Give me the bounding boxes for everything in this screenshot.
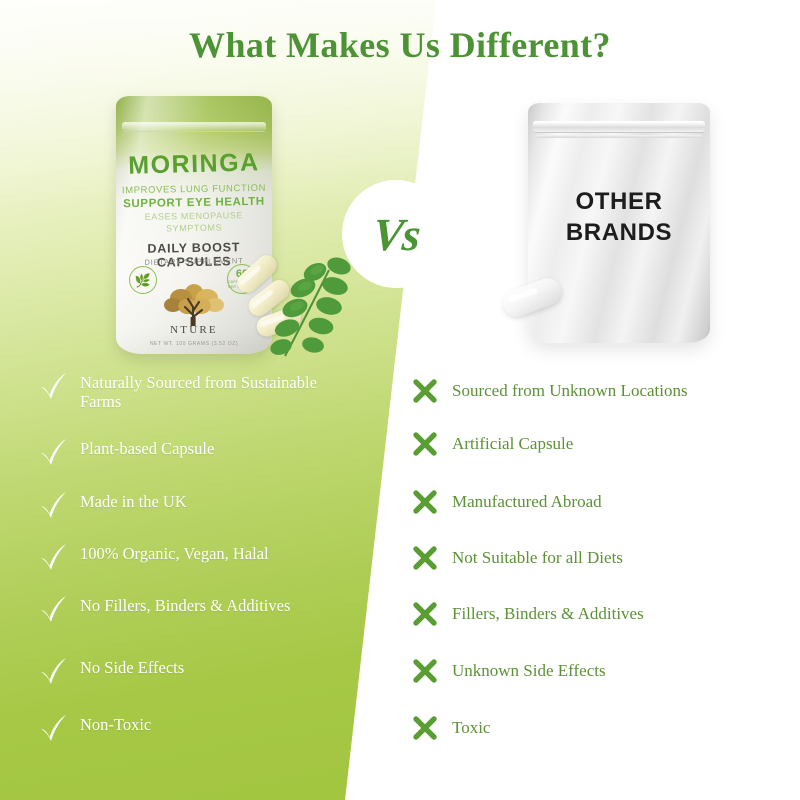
pouch-claims: IMPROVES LUNG FUNCTION SUPPORT EYE HEALT… [116, 184, 272, 234]
list-item: 100% Organic, Vegan, Halal [38, 543, 358, 595]
list-item: Made in the UK [38, 491, 358, 543]
drawbacks-list-theirs: Sourced from Unknown Locations Artificia… [412, 378, 800, 765]
list-item: Naturally Sourced from Sustainable Farms [38, 372, 358, 438]
cross-icon [412, 658, 438, 684]
list-item-label: Manufactured Abroad [438, 489, 602, 512]
list-item-label: Artificial Capsule [438, 431, 573, 454]
list-item: Fillers, Binders & Additives [412, 601, 800, 658]
moringa-leaf-icon [255, 252, 367, 360]
versus-badge: Vs [342, 180, 450, 288]
list-item: Not Suitable for all Diets [412, 545, 800, 601]
list-item: Non-Toxic [38, 714, 358, 764]
list-item-label: Plant-based Capsule [68, 438, 214, 458]
other-brands-line-1: OTHER [528, 187, 710, 218]
list-item: Manufactured Abroad [412, 489, 800, 545]
comparison-infographic: What Makes Us Different? MORINGA IMPROVE… [0, 0, 800, 800]
list-item: No Side Effects [38, 657, 358, 714]
list-item-label: Fillers, Binders & Additives [438, 601, 644, 624]
check-icon [38, 491, 68, 521]
list-item-label: Non-Toxic [68, 714, 151, 734]
check-icon [38, 657, 68, 687]
page-title: What Makes Us Different? [0, 24, 800, 66]
list-item: Toxic [412, 715, 800, 765]
check-icon [38, 595, 68, 625]
cross-icon [412, 601, 438, 627]
cross-icon [412, 545, 438, 571]
list-item-label: Unknown Side Effects [438, 658, 606, 681]
pouch-claim-3: EASES MENOPAUSE SYMPTOMS [116, 210, 272, 236]
leaf-icon: 🌿 [129, 266, 157, 294]
pouch-zipper [533, 121, 705, 133]
check-icon [38, 714, 68, 744]
versus-label: Vs [370, 208, 422, 261]
check-icon [38, 543, 68, 573]
check-icon [38, 438, 68, 468]
cross-icon [412, 378, 438, 404]
list-item-label: Naturally Sourced from Sustainable Farms [68, 372, 358, 411]
list-item-label: No Fillers, Binders & Additives [68, 595, 290, 615]
cross-icon [412, 489, 438, 515]
pouch-zipper-seam [536, 135, 702, 138]
pouch-brand-name: MORINGA [116, 148, 273, 181]
tree-logo-icon [158, 281, 230, 327]
cross-icon [412, 715, 438, 741]
list-item-label: Toxic [438, 715, 490, 738]
other-brands-line-2: BRANDS [528, 218, 710, 249]
list-item-label: Made in the UK [68, 491, 187, 511]
benefits-list-ours: Naturally Sourced from Sustainable Farms… [38, 372, 358, 764]
list-item-label: No Side Effects [68, 657, 184, 677]
list-item: Plant-based Capsule [38, 438, 358, 491]
cross-icon [412, 431, 438, 457]
list-item-label: 100% Organic, Vegan, Halal [68, 543, 269, 563]
list-item: Unknown Side Effects [412, 658, 800, 715]
other-brands-label: OTHER BRANDS [528, 187, 710, 248]
list-item: No Fillers, Binders & Additives [38, 595, 358, 657]
other-brands-pouch: OTHER BRANDS [528, 103, 710, 343]
pouch-zipper [122, 122, 266, 132]
list-item: Sourced from Unknown Locations [412, 378, 800, 431]
check-icon [38, 372, 68, 402]
list-item-label: Not Suitable for all Diets [438, 545, 623, 568]
list-item: Artificial Capsule [412, 431, 800, 489]
list-item-label: Sourced from Unknown Locations [438, 378, 688, 401]
